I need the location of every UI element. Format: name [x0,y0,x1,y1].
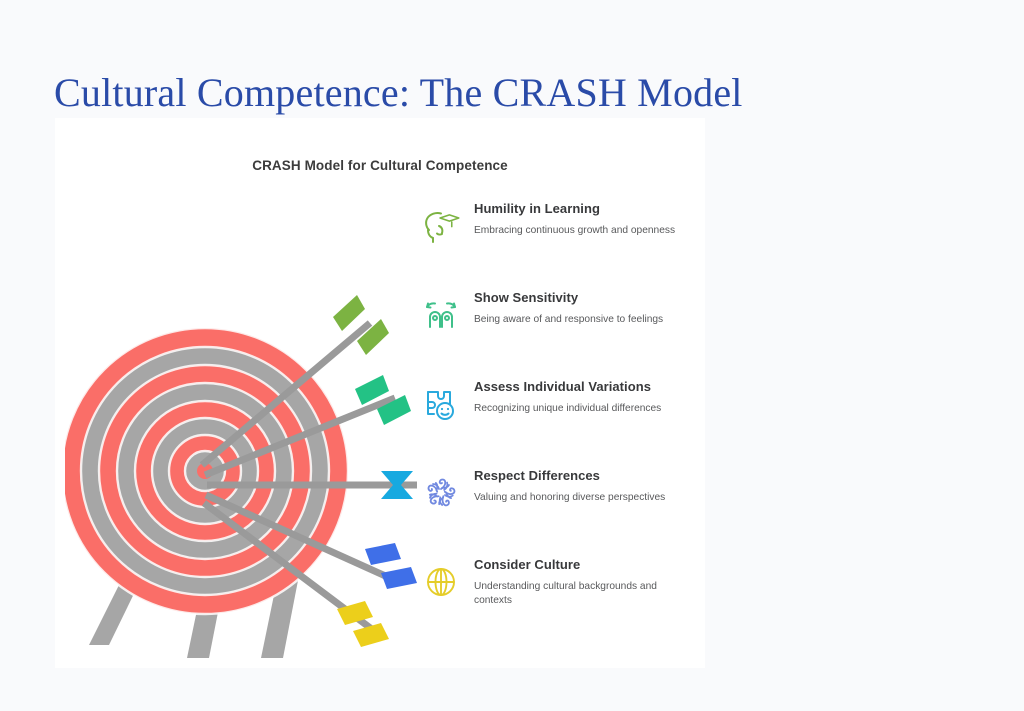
arrow-fletching-blue [365,543,417,589]
graduation-head-icon [419,204,463,248]
figure-card: CRASH Model for Cultural Competence [55,118,705,668]
globe-icon [419,560,463,604]
list-item-consider-culture[interactable]: Consider Culture Understanding cultural … [417,558,702,618]
list-item-description: Recognizing unique individual difference… [474,402,692,416]
list-item-title: Show Sensitivity [474,291,702,306]
people-pinwheel-icon [419,471,463,515]
figure-title: CRASH Model for Cultural Competence [55,158,705,173]
list-item-assess-individual-variations[interactable]: Assess Individual Variations Recognizing… [417,380,702,440]
list-item-title: Humility in Learning [474,202,702,217]
puzzle-face-icon [419,382,463,426]
list-item-description: Understanding cultural backgrounds and c… [474,580,692,609]
list-item-description: Valuing and honoring diverse perspective… [474,491,692,505]
list-item-humility-in-learning[interactable]: Humility in Learning Embracing continuou… [417,202,702,262]
two-people-arrows-icon [419,293,463,337]
page-title: Cultural Competence: The CRASH Model [54,69,743,116]
list-item-show-sensitivity[interactable]: Show Sensitivity Being aware of and resp… [417,291,702,351]
list-item-description: Embracing continuous growth and openness [474,224,692,238]
list-item-description: Being aware of and responsive to feeling… [474,313,692,327]
slide-canvas: Cultural Competence: The CRASH Model CRA… [0,0,1024,711]
list-item-title: Consider Culture [474,558,702,573]
list-item-title: Respect Differences [474,469,702,484]
list-item-respect-differences[interactable]: Respect Differences Valuing and honoring… [417,469,702,529]
crash-model-list: Humility in Learning Embracing continuou… [417,196,702,618]
target-svg [65,213,425,658]
list-item-title: Assess Individual Variations [474,380,702,395]
archery-target-graphic [65,213,425,658]
